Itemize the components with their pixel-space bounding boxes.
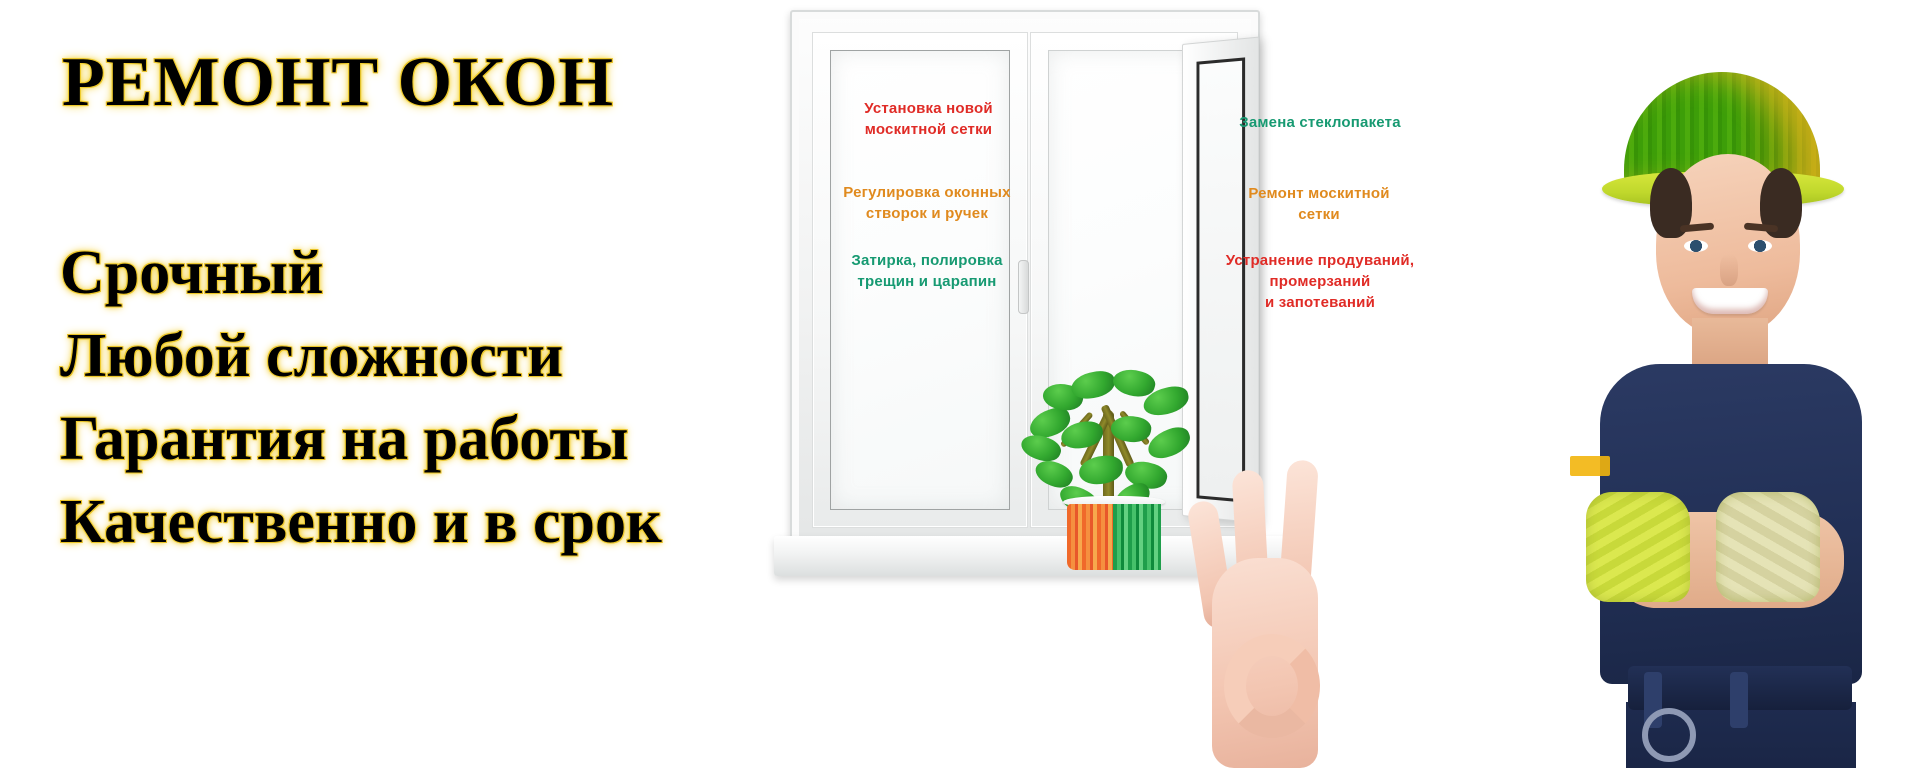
list-item: Качественно и в срок [60, 481, 662, 564]
work-glove-right-icon [1716, 492, 1820, 602]
list-item: Любой сложности [60, 315, 662, 398]
belt-loop-right [1730, 672, 1748, 728]
label-mesh-repair: Ремонт москитной сетки [1216, 183, 1422, 225]
list-item: Срочный [60, 232, 662, 315]
advertisement-banner: РЕМОНТ ОКОН Срочный Любой сложности Гара… [0, 0, 1920, 768]
ok-ring [1224, 634, 1320, 738]
label-mesh-installation: Установка новой москитной сетки [836, 98, 1021, 140]
label-draft-elimination: Устранение продуваний, промерзаний и зап… [1196, 250, 1444, 313]
page-title: РЕМОНТ ОКОН [62, 48, 614, 118]
smile [1692, 288, 1768, 314]
label-glazing-replacement: Замена стеклопакета [1215, 112, 1425, 133]
label-sash-adjustment: Регулировка оконных створок и ручек [826, 182, 1028, 224]
ok-hand-gesture [1188, 430, 1408, 768]
label-crack-polishing: Затирка, полировка трещин и царапин [831, 250, 1023, 292]
glove-brand-mark [1570, 456, 1610, 476]
potted-plant-icon [1015, 370, 1205, 570]
eye-right [1748, 240, 1772, 252]
flower-pot [1067, 504, 1161, 570]
eye-left [1684, 240, 1708, 252]
work-glove-left-icon [1586, 492, 1690, 602]
tagline-list: Срочный Любой сложности Гарантия на рабо… [60, 232, 662, 564]
list-item: Гарантия на работы [60, 398, 662, 481]
nose [1720, 254, 1738, 286]
tool-ring-icon [1642, 708, 1696, 762]
worker-photo [1516, 72, 1920, 768]
